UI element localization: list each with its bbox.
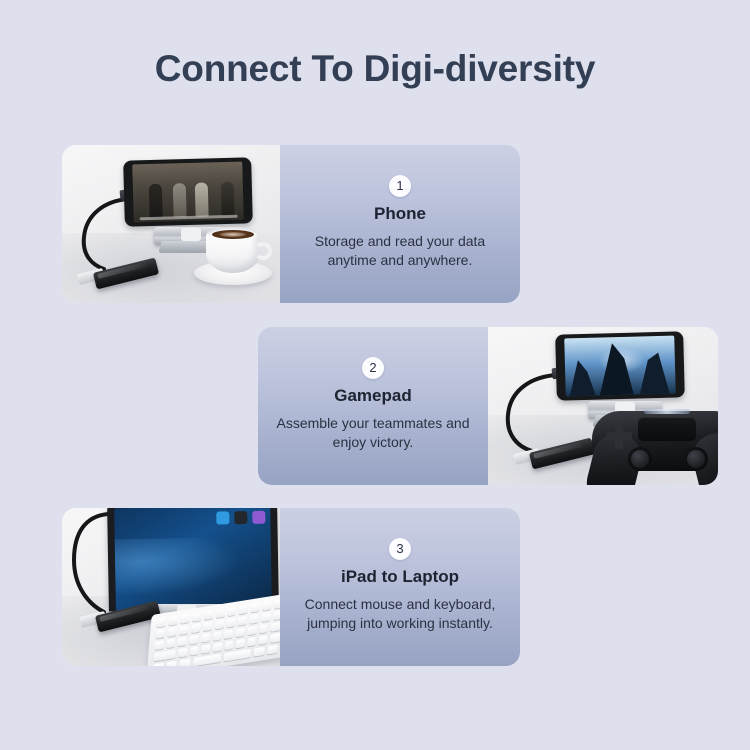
feature-image-phone [62, 145, 280, 303]
app-icon [234, 511, 247, 524]
card-title: iPad to Laptop [341, 567, 459, 587]
card-description: Assemble your teammates and enjoy victor… [272, 414, 474, 453]
smartphone-device [555, 331, 685, 400]
app-icon [252, 511, 265, 524]
feature-image-ipad [62, 508, 280, 666]
feature-card-phone[interactable]: 1 Phone Storage and read your data anyti… [62, 145, 520, 303]
feature-text-panel-ipad: 3 iPad to Laptop Connect mouse and keybo… [280, 508, 520, 666]
feature-card-ipad-to-laptop[interactable]: 3 iPad to Laptop Connect mouse and keybo… [62, 508, 520, 666]
step-badge: 2 [362, 357, 384, 379]
coffee-cup [206, 231, 260, 273]
page-title: Connect To Digi-diversity [0, 48, 750, 91]
smartphone-device [123, 157, 253, 226]
phone-screen-game [564, 336, 675, 397]
feature-text-panel-phone: 1 Phone Storage and read your data anyti… [280, 145, 520, 303]
feature-image-gamepad [488, 327, 718, 485]
card-description: Connect mouse and keyboard, jumping into… [294, 595, 506, 634]
step-badge: 3 [389, 538, 411, 560]
feature-text-panel-gamepad: 2 Gamepad Assemble your teammates and en… [258, 327, 488, 485]
card-description: Storage and read your data anytime and a… [294, 232, 506, 271]
card-title: Gamepad [334, 386, 411, 406]
app-icon [216, 511, 229, 524]
feature-card-gamepad[interactable]: 2 Gamepad Assemble your teammates and en… [258, 327, 718, 485]
card-title: Phone [374, 204, 426, 224]
gamepad-controller [592, 395, 718, 485]
phone-screen-video [132, 162, 243, 223]
step-badge: 1 [389, 175, 411, 197]
